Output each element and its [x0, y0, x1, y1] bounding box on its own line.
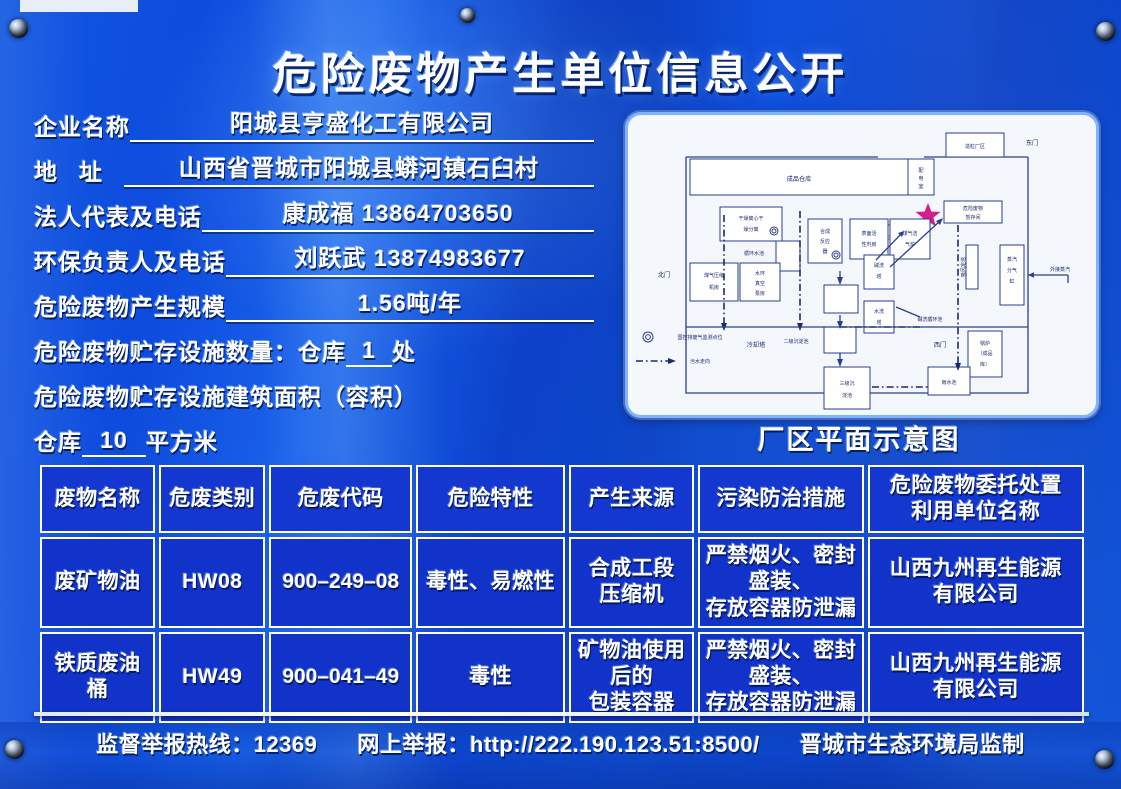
cell-control-measures: 严禁烟火、密封盛装、 存放容器防泄漏 — [698, 537, 863, 628]
storage-area-label: 危险废物贮存设施建筑面积（容积） — [34, 378, 418, 412]
svg-text:机房: 机房 — [709, 284, 719, 291]
info-row-generation-scale: 危险废物产生规模 1.56吨/年 — [34, 290, 594, 322]
mounting-bolt-bottom-right — [1095, 750, 1114, 769]
cell-waste-code: 900–041–49 — [269, 632, 412, 723]
svg-text:泵房: 泵房 — [755, 290, 765, 297]
svg-text:造粒厂区: 造粒厂区 — [965, 143, 985, 150]
cell-hazard-property: 毒性、易燃性 — [416, 537, 565, 628]
table-header-row: 废物名称 危废类别 危废代码 危险特性 产生来源 污染防治措施 危险废物委托处置… — [40, 465, 1084, 533]
svg-text:碱洗: 碱洗 — [874, 262, 884, 269]
info-value: 山西省晋城市阳城县蟒河镇石臼村 — [124, 149, 594, 187]
svg-text:水洗: 水洗 — [874, 308, 884, 315]
cell-waste-name: 铁质废油桶 — [40, 632, 155, 723]
storage-count-label: 危险废物贮存设施数量：仓库 — [34, 333, 346, 367]
storage-area-prefix: 仓库 — [34, 423, 82, 457]
info-label: 法人代表及电话 — [34, 198, 202, 232]
info-row-storage-count: 危险废物贮存设施数量：仓库 1 处 — [34, 335, 594, 367]
svg-text:外接蒸汽: 外接蒸汽 — [1050, 266, 1070, 273]
svg-text:北门: 北门 — [658, 271, 670, 279]
mounting-bolt-bottom-left — [5, 740, 24, 759]
svg-text:冷却塔: 冷却塔 — [747, 341, 766, 349]
svg-text:污水走向: 污水走向 — [690, 358, 710, 365]
cell-waste-category: HW49 — [159, 632, 265, 723]
storage-count-unit: 处 — [392, 333, 416, 367]
svg-text:西门: 西门 — [934, 341, 946, 349]
info-row-company-name: 企业名称 阳城县亨盛化工有限公司 — [34, 110, 594, 142]
svg-text:塔: 塔 — [876, 273, 881, 280]
info-value: 康成福 13864703650 — [202, 194, 594, 232]
factory-plan-diagram: 成品仓库 配 电 室 造粒厂区 东门 危险废物 暂存间 再生 库 干燥离心干 燥 — [625, 112, 1099, 418]
storage-count-value: 1 — [346, 337, 392, 367]
svg-text:煤气洁: 煤气洁 — [902, 230, 917, 237]
footer-online-report: 网上举报：http://222.190.123.51:8500/ — [357, 727, 759, 759]
svg-text:性剂房: 性剂房 — [861, 241, 876, 248]
info-value: 刘跃武 13874983677 — [226, 239, 594, 277]
table-row: 铁质废油桶 HW49 900–041–49 毒性 矿物油使用后的 包装容器 严禁… — [40, 632, 1084, 723]
svg-text:二级沉淀池: 二级沉淀池 — [783, 338, 808, 345]
info-label: 环保负责人及电话 — [34, 243, 226, 277]
svg-text:缸: 缸 — [1009, 278, 1014, 285]
svg-text:东门: 东门 — [1026, 139, 1038, 147]
svg-text:煤气压缩: 煤气压缩 — [704, 272, 724, 279]
svg-text:暂存间: 暂存间 — [965, 214, 980, 221]
info-value: 阳城县亨盛化工有限公司 — [130, 104, 594, 142]
cell-source: 合成工段 压缩机 — [569, 537, 694, 628]
cell-waste-name: 废矿物油 — [40, 537, 155, 628]
company-info-block: 企业名称 阳城县亨盛化工有限公司 地址 山西省晋城市阳城县蟒河镇石臼村 法人代表… — [34, 110, 594, 470]
info-row-storage-area-title: 危险废物贮存设施建筑面积（容积） — [34, 380, 594, 412]
svg-text:循环水池: 循环水池 — [744, 250, 764, 257]
svg-text:表面活: 表面活 — [861, 230, 876, 237]
cell-entrusted-unit: 山西九州再生能源 有限公司 — [868, 632, 1084, 723]
svg-text:蒸汽: 蒸汽 — [1007, 256, 1017, 263]
cell-source: 矿物油使用后的 包装容器 — [569, 632, 694, 723]
cell-waste-category: HW08 — [159, 537, 265, 628]
mounting-bolt-top-left — [9, 19, 28, 38]
diagram-caption: 厂区平面示意图 — [625, 418, 1093, 457]
board-title: 危险废物产生单位信息公开 — [0, 38, 1121, 102]
th-control-measures: 污染防治措施 — [698, 465, 863, 533]
information-board: 危险废物产生单位信息公开 企业名称 阳城县亨盛化工有限公司 地址 山西省晋城市阳… — [0, 0, 1121, 789]
svg-text:淀池: 淀池 — [842, 392, 852, 399]
storage-area-value: 10 — [82, 427, 146, 457]
mounting-bolt-top-right — [1096, 22, 1115, 41]
footer-bar: 监督举报热线：12369 网上举报：http://222.190.123.51:… — [0, 727, 1121, 759]
cell-hazard-property: 毒性 — [416, 632, 565, 723]
svg-text:国控排废气监测点位: 国控排废气监测点位 — [677, 334, 722, 341]
svg-text:水环: 水环 — [755, 270, 765, 277]
svg-text:反应: 反应 — [820, 238, 830, 245]
svg-text:分气: 分气 — [1007, 267, 1017, 274]
waste-table-wrapper: 废物名称 危废类别 危废代码 危险特性 产生来源 污染防治措施 危险废物委托处置… — [36, 461, 1088, 727]
footer-divider — [34, 712, 1089, 716]
svg-text:燥分离: 燥分离 — [743, 226, 758, 233]
info-row-address: 地址 山西省晋城市阳城县蟒河镇石臼村 — [34, 155, 594, 187]
info-label: 企业名称 — [34, 108, 130, 142]
table-row: 废矿物油 HW08 900–249–08 毒性、易燃性 合成工段 压缩机 严禁烟… — [40, 537, 1084, 628]
svg-text:雨水池: 雨水池 — [941, 379, 956, 386]
info-label: 危险废物产生规模 — [34, 288, 226, 322]
info-row-env-officer: 环保负责人及电话 刘跃武 13874983677 — [34, 245, 594, 277]
svg-text:配: 配 — [918, 168, 923, 174]
svg-text:合成: 合成 — [820, 228, 830, 235]
svg-text:干燥离心干: 干燥离心干 — [738, 215, 763, 222]
svg-text:塔: 塔 — [876, 319, 881, 326]
svg-text:锅炉: 锅炉 — [980, 340, 990, 347]
info-label: 地址 — [34, 153, 124, 187]
cell-entrusted-unit: 山西九州再生能源 有限公司 — [868, 537, 1084, 628]
th-source: 产生来源 — [569, 465, 694, 533]
svg-text:器: 器 — [822, 249, 827, 255]
info-row-legal-rep: 法人代表及电话 康成福 13864703650 — [34, 200, 594, 232]
mounting-bolt-top-middle — [460, 8, 475, 23]
board-edge-chip — [20, 0, 138, 12]
footer-hotline: 监督举报热线：12369 — [96, 727, 317, 759]
th-entrusted-unit: 危险废物委托处置 利用单位名称 — [868, 465, 1084, 533]
svg-text:室: 室 — [918, 183, 923, 190]
svg-text:电: 电 — [918, 175, 923, 182]
footer-authority: 晋城市生态环境局监制 — [800, 727, 1025, 759]
svg-text:危险废物: 危险废物 — [963, 205, 983, 212]
info-value: 1.56吨/年 — [226, 284, 594, 322]
th-waste-code: 危废代码 — [269, 465, 412, 533]
hazardous-waste-table: 废物名称 危废类别 危废代码 危险特性 产生来源 污染防治措施 危险废物委托处置… — [36, 461, 1088, 727]
storage-area-unit: 平方米 — [146, 423, 218, 457]
cell-waste-code: 900–249–08 — [269, 537, 412, 628]
th-waste-name: 废物名称 — [40, 465, 155, 533]
svg-text:碱洗循环池: 碱洗循环池 — [917, 316, 942, 323]
info-row-storage-area-value: 仓库 10 平方米 — [34, 425, 594, 457]
svg-text:（成品: （成品 — [977, 350, 992, 357]
cell-control-measures: 严禁烟火、密封盛装、 存放容器防泄漏 — [698, 632, 863, 723]
svg-text:吸风定塔: 吸风定塔 — [960, 257, 967, 277]
svg-text:三级沉: 三级沉 — [839, 380, 854, 387]
th-hazard-property: 危险特性 — [416, 465, 565, 533]
svg-text:库）: 库） — [980, 361, 990, 368]
svg-text:成品仓库: 成品仓库 — [787, 175, 812, 183]
svg-text:真空: 真空 — [755, 280, 765, 287]
th-waste-category: 危废类别 — [159, 465, 265, 533]
diagram-legend: 国控排废气监测点位 污水走向 — [636, 332, 723, 365]
